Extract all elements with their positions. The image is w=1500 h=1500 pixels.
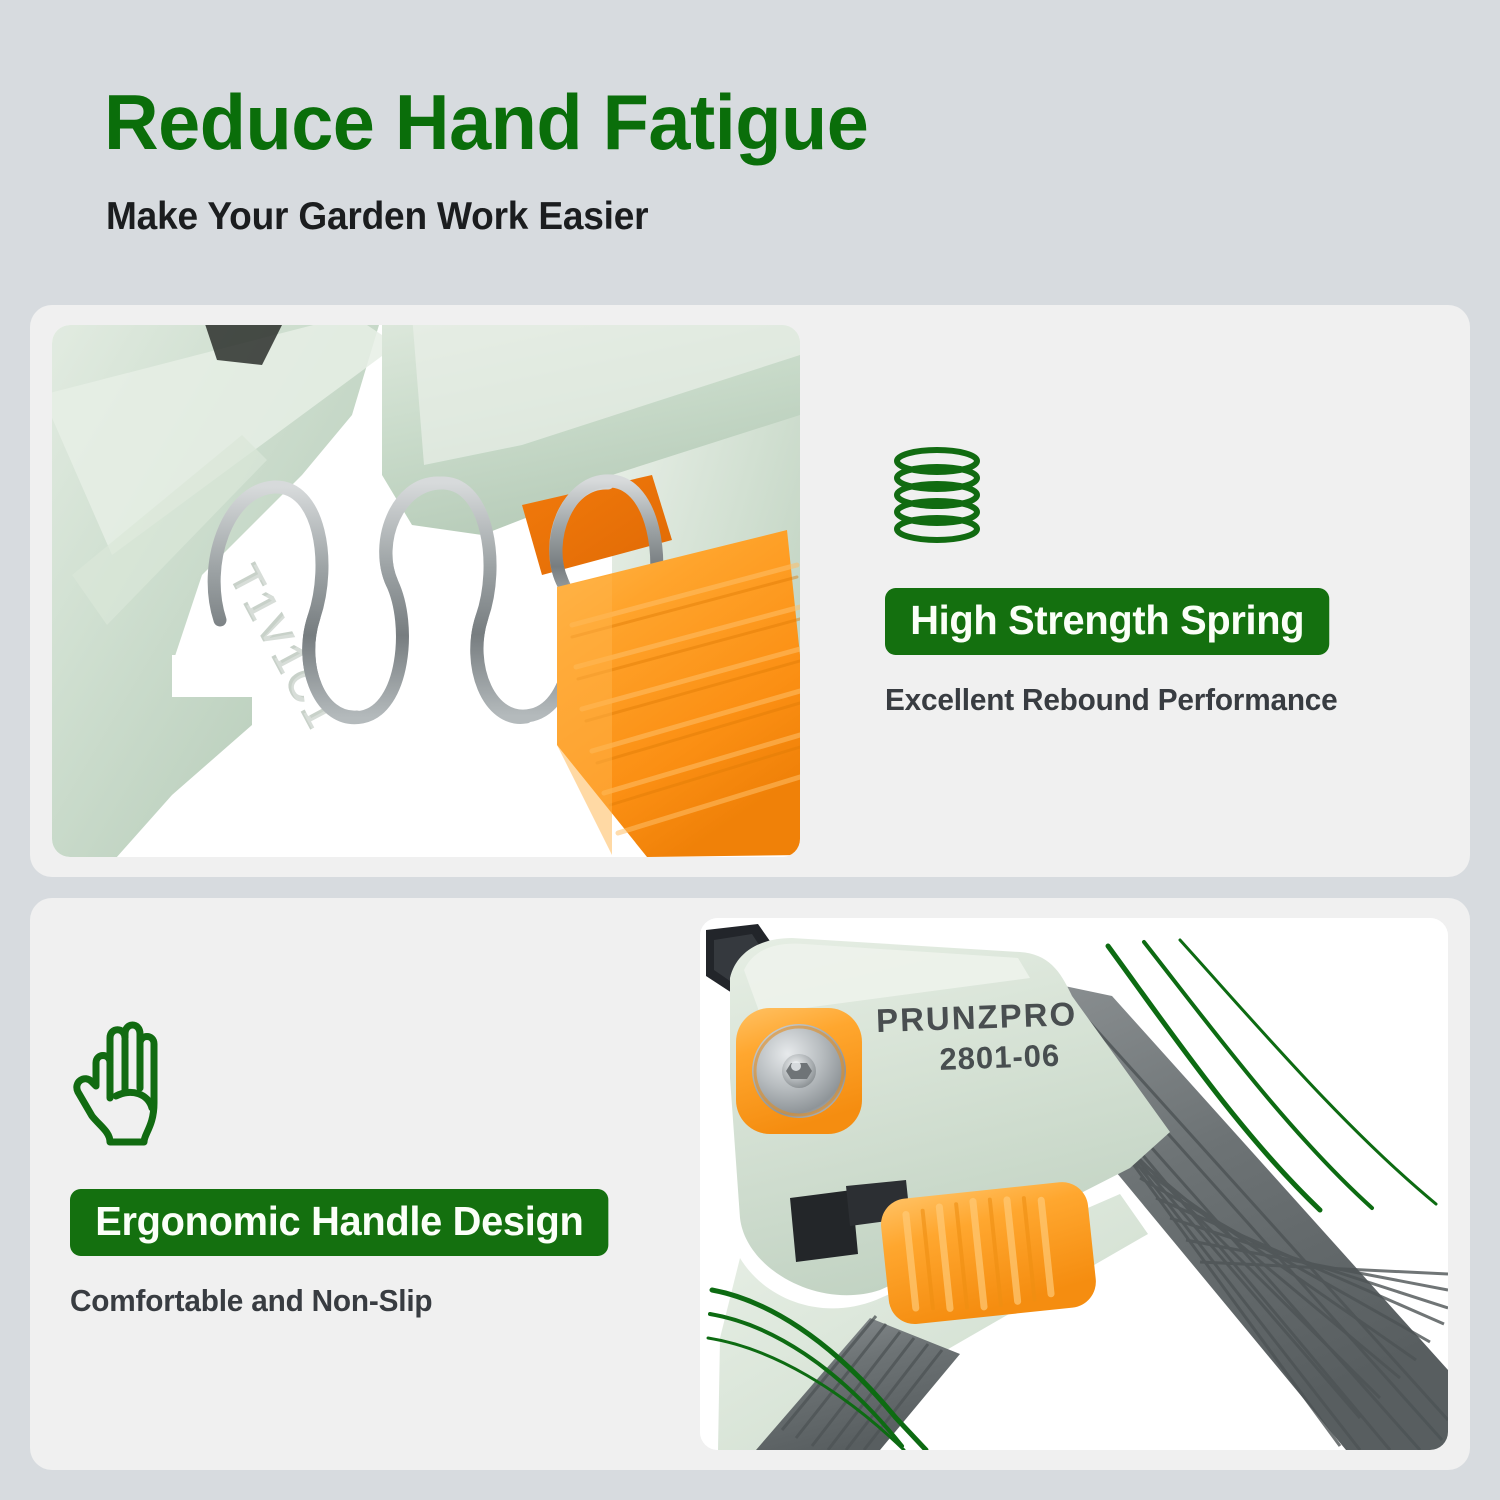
feature-badge-handle: Ergonomic Handle Design — [70, 1189, 609, 1256]
feature-card-spring: T1V1C1 T1V1C1 — [30, 305, 1470, 877]
pruner-spring-closeup-photo: T1V1C1 T1V1C1 — [52, 325, 800, 857]
brand-mark-text: PRUNZPRO — [875, 995, 1077, 1039]
header-banner: Reduce Hand Fatigue Make Your Garden Wor… — [0, 0, 1500, 300]
feature-subtext-handle: Comfortable and Non-Slip — [70, 1282, 684, 1320]
page-title: Reduce Hand Fatigue — [104, 78, 868, 166]
feature-subtext-spring: Excellent Rebound Performance — [885, 681, 1394, 719]
feature-card-handle: Ergonomic Handle Design Comfortable and … — [30, 898, 1470, 1470]
feature-block-handle: Ergonomic Handle Design Comfortable and … — [70, 1008, 710, 1320]
page-subtitle: Make Your Garden Work Easier — [106, 193, 648, 241]
feature-block-spring: High Strength Spring Excellent Rebound P… — [885, 445, 1415, 719]
open-hand-icon — [70, 1008, 710, 1155]
pruner-handle-closeup-photo: PRUNZPRO 2801-06 — [700, 918, 1448, 1450]
spring-coil-icon — [885, 445, 1415, 554]
feature-badge-spring: High Strength Spring — [885, 588, 1330, 655]
model-number-text: 2801-06 — [939, 1038, 1061, 1077]
